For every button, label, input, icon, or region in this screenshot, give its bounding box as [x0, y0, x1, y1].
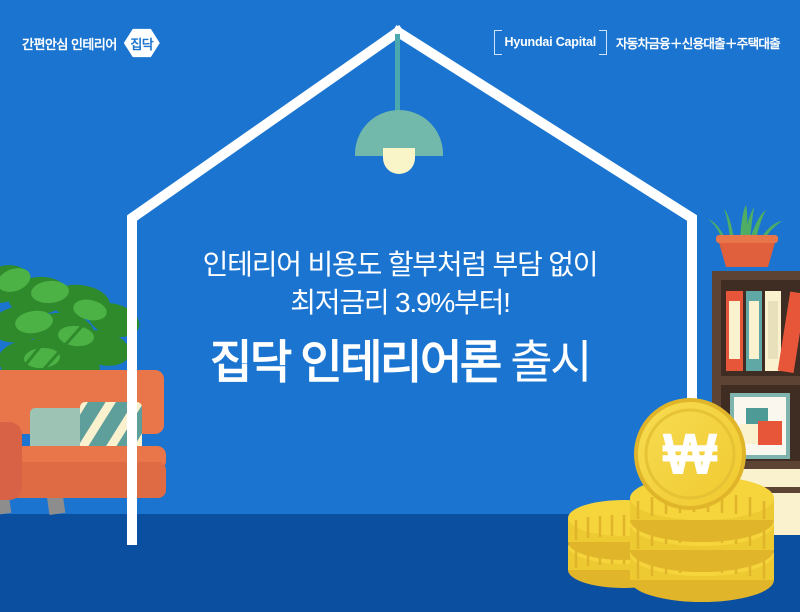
jipdoc-tagline: 간편안심 인테리어	[22, 34, 117, 53]
jipdoc-brand-lockup: 간편안심 인테리어 집닥	[22, 28, 160, 58]
jipdoc-badge-label: 집닥	[130, 34, 153, 53]
hyundai-capital-lockup: Hyundai Capital 자동차금융＋신용대출＋주택대출	[494, 30, 780, 55]
hyundai-capital-name: Hyundai Capital	[505, 35, 596, 49]
hyundai-capital-tagline: 자동차금융＋신용대출＋주택대출	[616, 33, 780, 52]
advertisement-banner: 간편안심 인테리어 집닥 Hyundai Capital 자동차금융＋신용대출＋…	[0, 0, 800, 612]
jipdoc-logo-badge: 집닥	[124, 28, 160, 58]
hyundai-capital-logo: Hyundai Capital	[494, 30, 607, 55]
gold-coins-icon: ₩	[566, 398, 800, 612]
won-symbol: ₩	[663, 422, 718, 487]
standing-won-coin: ₩	[634, 398, 746, 510]
